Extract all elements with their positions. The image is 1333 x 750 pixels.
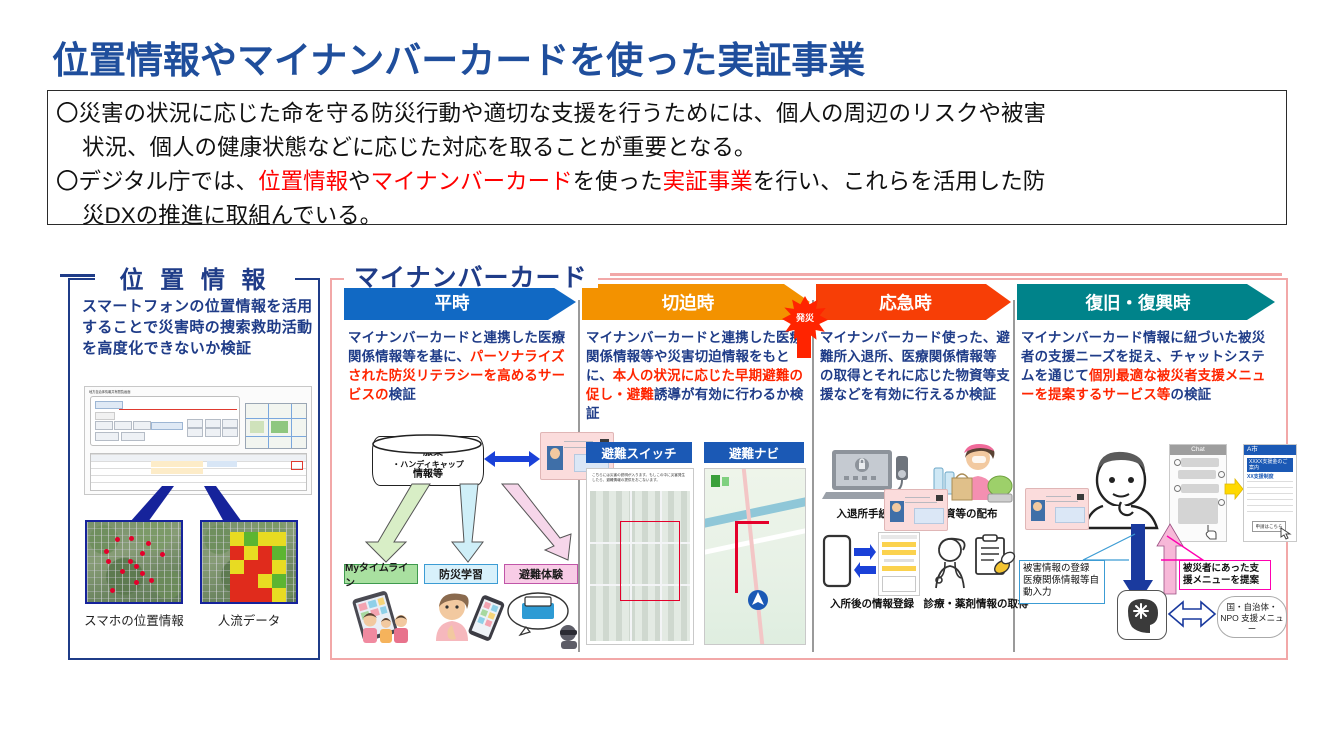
heat-cell — [244, 588, 258, 602]
phase-column-fukkyu: 復旧・復興時 マイナンバーカード情報に紐づいた被災者の支援ニーズを捉え、チャット… — [1017, 284, 1275, 654]
phase-banner-seppakuji[interactable]: 切迫時 — [582, 284, 810, 320]
form-tag — [151, 422, 183, 430]
evacuation-vr-illustration — [506, 589, 584, 647]
icon-caption-medical-info: 診療・薬剤情報の取得 — [920, 596, 1032, 611]
cylinder-top-ellipse — [372, 434, 484, 454]
screenshot-hinan-navi — [704, 468, 806, 645]
gps-dot — [128, 559, 133, 564]
minimap-block — [271, 421, 288, 433]
note-leader-line-left — [1077, 534, 1137, 566]
form-button — [222, 419, 238, 428]
card-blue-field — [914, 508, 945, 524]
chat-avatar — [1174, 459, 1181, 466]
phase-column-oukyuji: 応急時 マイナンバーカード使った、避難所入退所、医療関係情報等の取得とそれに応じ… — [816, 284, 1011, 654]
bidirectional-arrow-icon — [484, 450, 540, 468]
mynumber-legend-rule — [610, 273, 1282, 276]
cylinder-output-arrows — [352, 480, 592, 566]
support-form-title: XXXX支援金のご案内 — [1247, 458, 1293, 472]
form-button — [121, 432, 145, 441]
location-legend-rule-left — [60, 274, 98, 277]
gps-dot — [146, 541, 151, 546]
phase-banner-oukyuji[interactable]: 応急時 — [816, 284, 1011, 320]
mynumber-card-icon — [1025, 488, 1089, 530]
button-label: 避難ナビ — [729, 443, 779, 462]
location-description: スマートフォンの位置情報を活用することで災害時の捜索救助活動を高度化できないか検… — [82, 296, 314, 359]
form-tag — [95, 401, 123, 409]
heat-cell — [258, 574, 272, 588]
phase-banner-fukkyu[interactable]: 復旧・復興時 — [1017, 284, 1275, 320]
phase-banner-label: 平時 — [435, 290, 470, 315]
note-damage-registration: 被害情報の登録 医療関係情報等自動入力 — [1019, 560, 1105, 604]
phase-banner-label: 切迫時 — [662, 290, 715, 315]
family-tablet-illustration — [344, 589, 418, 647]
location-legend-label: 位 置 情 報 — [119, 267, 270, 294]
gps-dot — [134, 580, 139, 585]
chat-bubble — [1178, 470, 1216, 479]
summary-seg-post: を行い、これらを活用した防 — [753, 169, 1046, 194]
column-separator — [812, 300, 814, 652]
heat-cell — [258, 560, 272, 574]
service-box-label: 避難体験 — [519, 566, 563, 582]
form-button — [114, 421, 132, 430]
card-chip — [936, 495, 943, 501]
disaster-onset-burst: 発災 — [782, 296, 828, 342]
prescription-chart-icon — [972, 534, 1016, 594]
service-box-label: 防災学習 — [439, 566, 483, 582]
card-chip — [1077, 494, 1084, 500]
note-leader-line-right — [1147, 536, 1207, 566]
phase-body-fukkyu: マイナンバーカード情報に紐づいた被災者の支援ニーズを捉え、チャットシステムを通じ… — [1021, 328, 1271, 404]
gps-dot — [160, 552, 165, 557]
cursor-pointer-icon — [1280, 527, 1292, 539]
registration-form-screenshot — [878, 532, 920, 596]
minimap-block — [250, 421, 264, 433]
chat-window-title: Chat — [1170, 445, 1226, 455]
support-form-screenshot[interactable]: A市 XXXX支援金のご案内 XX支援制度 申請はこちら — [1243, 444, 1297, 542]
phase-banner-label: 復旧・復興時 — [1086, 290, 1191, 315]
table-cell-highlight — [207, 461, 237, 467]
mynumber-section-legend: マイナンバーカード — [344, 258, 598, 288]
heat-cell — [230, 574, 244, 588]
button-label: 避難スイッチ — [601, 443, 676, 462]
card-photo — [1031, 500, 1045, 521]
table-header-row — [91, 454, 306, 461]
heat-cell — [272, 574, 286, 588]
gps-dot — [134, 564, 139, 569]
photo-population-flow — [200, 520, 298, 604]
heat-cell — [272, 588, 286, 602]
chat-avatar — [1218, 499, 1225, 506]
gps-dot — [140, 551, 145, 556]
minimap-road — [268, 404, 269, 448]
gps-dot — [120, 569, 125, 574]
form-red-underline — [119, 409, 237, 410]
heat-cell — [258, 546, 272, 560]
card-photo — [547, 446, 563, 470]
heat-cell — [230, 560, 244, 574]
service-box-my-timeline[interactable]: Myタイムライン — [344, 564, 418, 584]
form-button — [133, 421, 151, 430]
body-seg-post: 検証 — [389, 387, 416, 402]
phase-body-oukyuji: マイナンバーカード使った、避難所入退所、医療関係情報等の取得とそれに応じた物資等… — [820, 328, 1010, 404]
photo-caption-flow: 人流データ — [194, 610, 304, 629]
woman-thinking-illustration — [424, 589, 508, 647]
navi-path — [735, 521, 769, 524]
navi-location-marker-icon — [747, 589, 769, 615]
person-thinking-icon — [1077, 450, 1163, 530]
yellow-arrow-icon — [1225, 479, 1243, 499]
heat-cell — [272, 560, 286, 574]
minimap-road — [246, 418, 306, 419]
phase-column-seppakuji: 切迫時 マイナンバーカードと連携した医療関係情報等や災害切迫情報をもとに、本人の… — [582, 284, 810, 654]
heat-cell — [230, 588, 244, 602]
location-minimap — [245, 403, 307, 449]
summary-box: 〇災害の状況に応じた命を守る防災行動や適切な支援を行うためには、個人の周辺のリス… — [47, 90, 1287, 225]
location-app-form-panel — [90, 396, 240, 446]
card-line — [905, 502, 937, 503]
card-line — [1046, 501, 1078, 502]
gps-dot — [149, 578, 154, 583]
location-panel: スマートフォンの位置情報を活用することで災害時の捜索救助活動を高度化できないか検… — [68, 278, 320, 660]
button-hinan-navi[interactable]: 避難ナビ — [704, 442, 804, 463]
navi-green-block — [722, 477, 729, 486]
heat-cell — [258, 588, 272, 602]
heat-cell — [244, 574, 258, 588]
heat-cell — [272, 532, 286, 546]
summary-line-2a: 〇デジタル庁では、位置情報やマイナンバーカードを使った実証事業を行い、これらを活… — [56, 165, 1278, 199]
support-form-header: A市 — [1244, 445, 1296, 455]
navi-path — [735, 521, 738, 593]
chat-bubble — [1178, 498, 1218, 524]
summary-highlight-mynumber: マイナンバーカード — [371, 169, 573, 194]
ai-brain-icon — [1124, 597, 1160, 633]
form-button — [95, 432, 119, 441]
summary-seg-mid1: や — [348, 169, 371, 194]
form-button — [187, 428, 203, 437]
chat-avatar — [1218, 471, 1225, 478]
gps-dot — [129, 536, 134, 541]
summary-line-1a: 〇災害の状況に応じた命を守る防災行動や適切な支援を行うためには、個人の周辺のリス… — [56, 97, 1278, 131]
card-blue-field — [1055, 507, 1086, 523]
heat-cell — [230, 532, 244, 546]
gps-dot — [110, 588, 115, 593]
photo-buildings — [87, 522, 181, 602]
gps-dot — [104, 549, 109, 554]
location-app-title: 地方自治体情報共有閲覧画面 — [85, 387, 311, 395]
doctor-icon — [928, 534, 972, 594]
location-section-legend: 位 置 情 報 — [95, 260, 295, 290]
ai-engine-box — [1117, 590, 1167, 640]
bidirectional-arrow-icon — [1169, 600, 1215, 628]
table-cell-highlight — [151, 468, 203, 474]
support-menu-bubble: 国・自治体・NPO 支援メニュー — [1217, 596, 1287, 638]
phase-banner-label: 応急時 — [879, 290, 932, 315]
table-cell-highlight — [151, 461, 203, 467]
table-row — [91, 475, 306, 482]
summary-highlight-demo: 実証事業 — [663, 169, 753, 194]
form-button — [95, 421, 113, 430]
gps-dot — [115, 537, 120, 542]
minimap-road — [246, 436, 306, 437]
screenshot-text-block: こちらには災害の説明が入ります。もしこの中に災害発生したら、避難情報の提供をおこ… — [592, 473, 688, 487]
phase-column-heiji: 平時 マイナンバーカードと連携した医療関係情報等を基に、パーソナライズされた防災… — [344, 284, 576, 654]
form-button — [205, 428, 221, 437]
button-hinan-switch[interactable]: 避難スイッチ — [586, 442, 692, 463]
body-seg-post: の検証 — [1171, 387, 1212, 402]
chat-bubble — [1181, 458, 1219, 467]
gps-dot — [106, 559, 111, 564]
icon-caption-post-entry-registration: 入所後の情報登録 — [816, 596, 928, 611]
smartphone-sync-icon — [822, 534, 874, 596]
card-line — [1046, 496, 1071, 497]
service-box-bousai-gakushu[interactable]: 防災学習 — [424, 564, 498, 584]
summary-line-1b: 状況、個人の健康状態などに応じた対応を取ることが重要となる。 — [56, 131, 1278, 165]
service-box-label: Myタイムライン — [345, 559, 417, 589]
phase-body-heiji: マイナンバーカードと連携した医療関係情報等を基に、パーソナライズされた防災リテラ… — [348, 328, 576, 404]
summary-seg-pre: 〇デジタル庁では、 — [56, 169, 258, 194]
form-button — [222, 428, 238, 437]
form-button — [205, 419, 221, 428]
photo-smartphone-location — [85, 520, 183, 604]
mynumber-card-icon — [884, 489, 948, 531]
navi-green-block — [711, 475, 720, 487]
heat-cell — [244, 532, 258, 546]
form-tag — [95, 412, 115, 420]
screenshot-map — [590, 491, 690, 641]
summary-highlight-location: 位置情報 — [258, 169, 348, 194]
card-line — [905, 497, 930, 498]
mynumber-legend-label: マイナンバーカード — [354, 264, 588, 292]
service-box-hinan-taiken[interactable]: 避難体験 — [504, 564, 578, 584]
summary-line-2b: 災DXの推進に取組んでいる。 — [56, 199, 1278, 233]
heat-cell — [272, 546, 286, 560]
phase-body-seppakuji: マイナンバーカードと連携した医療関係情報等や災害切迫情報をもとに、本人の状況に応… — [586, 328, 810, 423]
burst-label: 発災 — [782, 311, 828, 324]
heat-cell — [244, 546, 258, 560]
support-form-subtitle: XX支援制度 — [1247, 473, 1274, 480]
heat-cell — [244, 560, 258, 574]
table-cell-marked — [291, 461, 303, 470]
screenshot-hinan-switch: こちらには災害の説明が入ります。もしこの中に災害発生したら、避難情報の提供をおこ… — [586, 468, 694, 645]
chat-bubble — [1181, 484, 1219, 493]
summary-seg-mid2: を使った — [573, 169, 663, 194]
card-photo — [890, 501, 904, 522]
page-title: 位置情報やマイナンバーカードを使った実証事業 — [52, 30, 865, 84]
heat-cell — [258, 532, 272, 546]
gps-dot — [140, 571, 145, 576]
chat-avatar — [1174, 485, 1181, 492]
location-app-screenshot: 地方自治体情報共有閲覧画面 — [84, 386, 312, 495]
photo-caption-gps: スマホの位置情報 — [79, 610, 189, 629]
heat-cell — [230, 546, 244, 560]
minimap-road — [291, 404, 292, 448]
form-button — [187, 419, 203, 428]
